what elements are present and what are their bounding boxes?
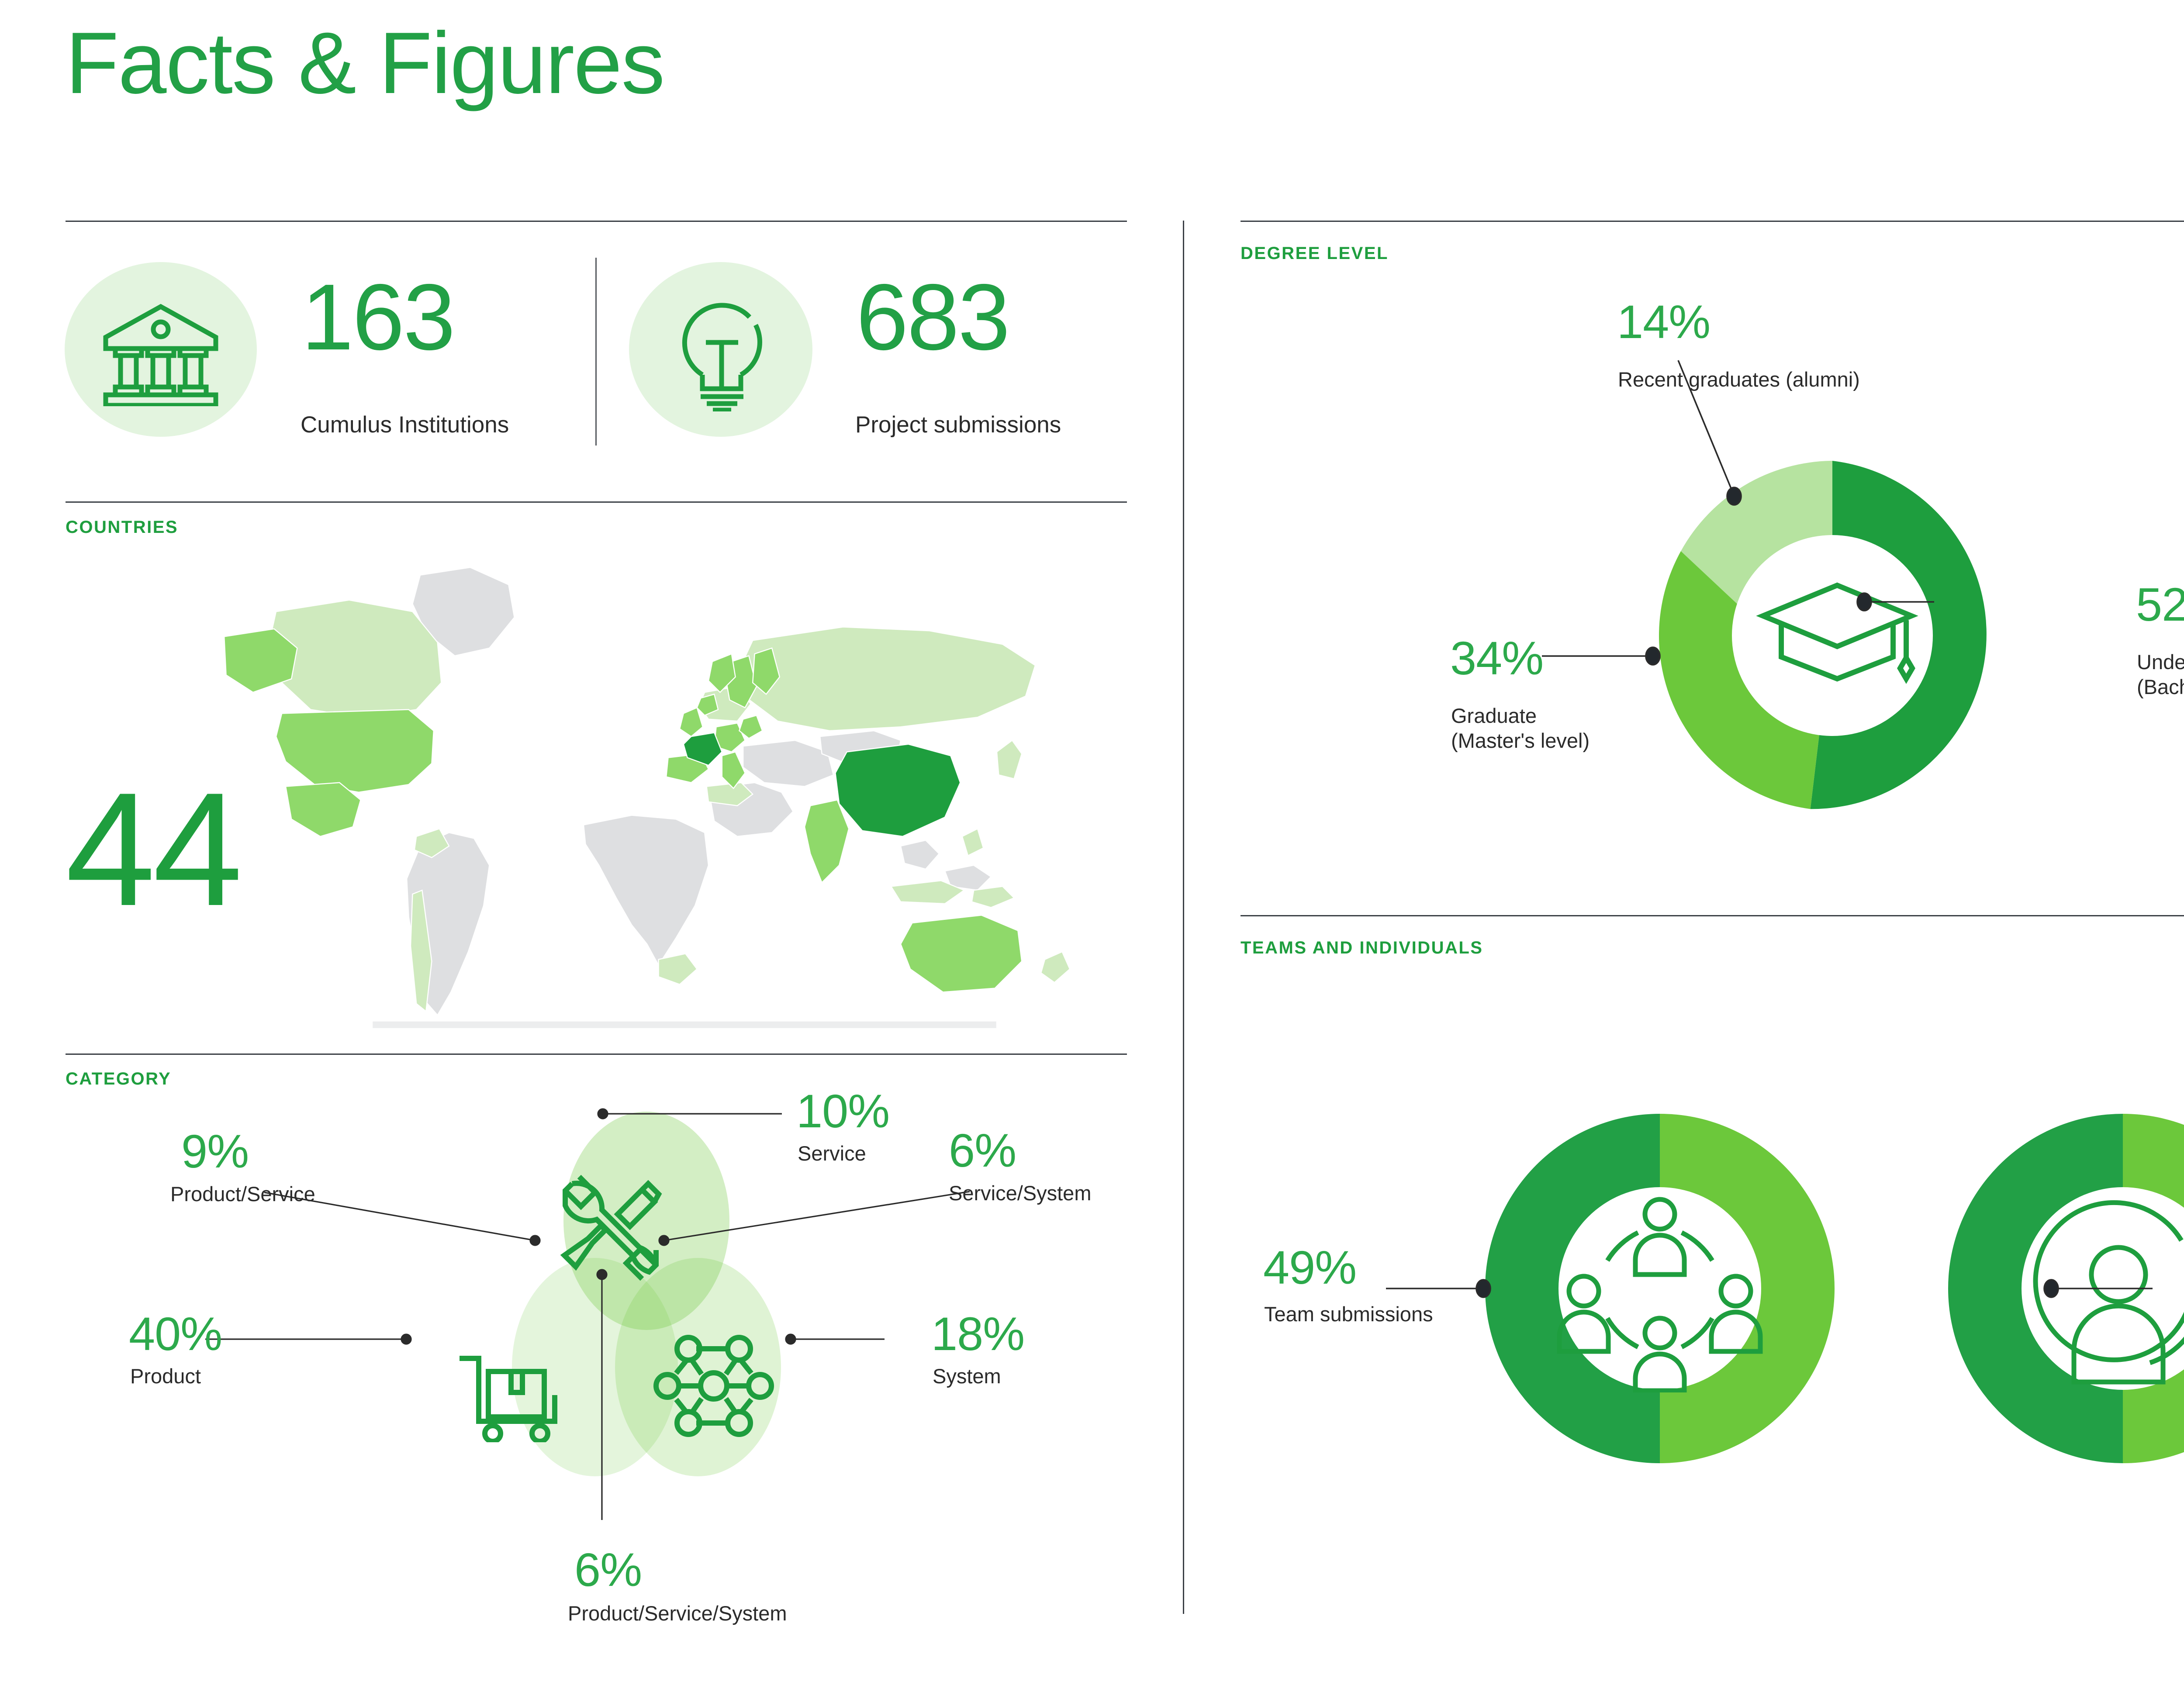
divider-category [66, 1054, 1127, 1055]
countries-count: 44 [66, 769, 240, 930]
degree-pct-undergraduate: 52% [2136, 581, 2184, 628]
category-name-service: Service [798, 1141, 866, 1166]
category-name-product: Product [130, 1364, 201, 1389]
degree-name-alumni: Recent graduates (alumni) [1618, 367, 1860, 392]
degree-pct-graduate: 34% [1450, 635, 1543, 682]
degree-name-undergraduate: Undergraduate (Bachelor's level) [2137, 649, 2184, 700]
kpi-caption-institutions: Cumulus Institutions [301, 411, 509, 438]
category-pct-service-system: 6% [949, 1127, 1016, 1174]
section-label-countries: COUNTRIES [66, 518, 178, 537]
category-name-system: System [933, 1364, 1001, 1389]
category-name-service-system: Service/System [949, 1181, 1091, 1206]
divider-countries [66, 501, 1127, 503]
category-pct-pss: 6% [574, 1546, 642, 1593]
kpi-caption-submissions: Project submissions [855, 411, 1061, 438]
teams-name-team: Team submissions [1264, 1302, 1433, 1326]
kpi-value-institutions: 163 [301, 270, 454, 364]
divider-kpi-vertical [595, 258, 597, 446]
teams-leader-lines [1241, 939, 2184, 1551]
category-pct-product-service: 9% [181, 1128, 249, 1175]
category-pct-service: 10% [796, 1088, 889, 1135]
world-map [127, 548, 1127, 1029]
divider-top-left [66, 221, 1127, 222]
kpi-value-submissions: 683 [856, 270, 1009, 364]
infographic-page: Facts & Figures 163 [0, 0, 2184, 1703]
divider-teams [1241, 915, 2184, 916]
category-pct-product: 40% [129, 1310, 222, 1358]
category-name-product-service: Product/Service [170, 1181, 315, 1206]
lightbulb-icon [668, 289, 778, 411]
page-title: Facts & Figures [66, 20, 664, 107]
divider-center-vertical [1183, 221, 1184, 1614]
degree-pct-alumni: 14% [1617, 298, 1710, 345]
category-pct-system: 18% [931, 1310, 1024, 1358]
degree-leader-lines [1241, 245, 2184, 891]
teams-pct-team: 49% [1263, 1244, 1356, 1291]
institution-icon [100, 293, 222, 406]
divider-top-right [1241, 221, 2184, 222]
category-name-pss: Product/Service/System [568, 1601, 787, 1626]
degree-name-graduate: Graduate (Master's level) [1451, 703, 1590, 753]
